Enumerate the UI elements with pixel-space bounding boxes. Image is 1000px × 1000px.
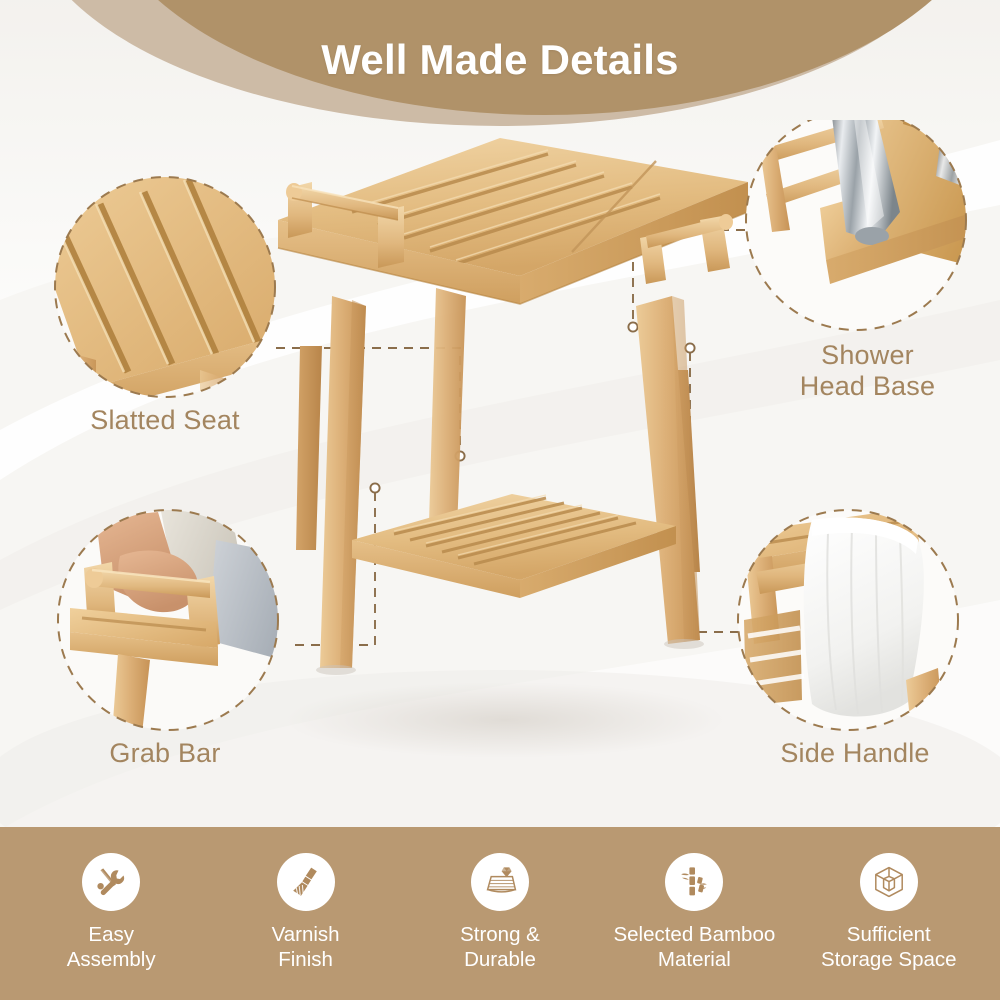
callout-inset-side-handle: [738, 508, 958, 740]
feature-label-sufficient-storage-space: Sufficient Storage Space: [821, 922, 957, 972]
leader-dot-side-handle: [685, 343, 694, 352]
feature-selected-bamboo-material: Selected Bamboo Material: [604, 853, 784, 972]
bamboo-icon: [665, 853, 723, 911]
feature-sufficient-storage-space: Sufficient Storage Space: [799, 853, 979, 972]
feature-easy-assembly: Easy Assembly: [21, 853, 201, 972]
feature-label-selected-bamboo-material: Selected Bamboo Material: [613, 922, 775, 972]
infographic-stage: Well Made Details: [0, 0, 1000, 1000]
product-diagram: [0, 120, 1000, 830]
callout-label-shower-head-base: Shower Head Base: [740, 340, 995, 403]
feature-label-strong-durable: Strong & Durable: [460, 922, 540, 972]
callout-label-slatted-seat: Slatted Seat: [20, 405, 310, 436]
feature-varnish-finish: Varnish Finish: [216, 853, 396, 972]
callout-label-grab-bar: Grab Bar: [20, 738, 310, 769]
brush-icon: [277, 853, 335, 911]
callout-inset-slatted-seat: [20, 140, 302, 420]
bench-leg-rear-left: [296, 346, 322, 550]
diamond-plank-icon: [471, 853, 529, 911]
leader-dot-grab-bar: [370, 483, 379, 492]
callout-inset-shower-head-base: [746, 120, 990, 330]
feature-label-easy-assembly: Easy Assembly: [67, 922, 156, 972]
page-title: Well Made Details: [0, 36, 1000, 84]
feature-label-varnish-finish: Varnish Finish: [272, 922, 340, 972]
callout-label-side-handle: Side Handle: [720, 738, 990, 769]
product-photo-bamboo-shower-bench: [278, 138, 748, 758]
tools-icon: [82, 853, 140, 911]
bench-handle-right-rail-cap: [719, 214, 733, 230]
cube-icon: [860, 853, 918, 911]
feature-bar: Easy Assembly Varnish Finish: [0, 827, 1000, 1000]
callout-inset-grab-bar: [58, 506, 286, 734]
leader-line-side-handle: [690, 352, 742, 632]
leader-dot-shower-head-base: [628, 322, 637, 331]
feature-strong-durable: Strong & Durable: [410, 853, 590, 972]
